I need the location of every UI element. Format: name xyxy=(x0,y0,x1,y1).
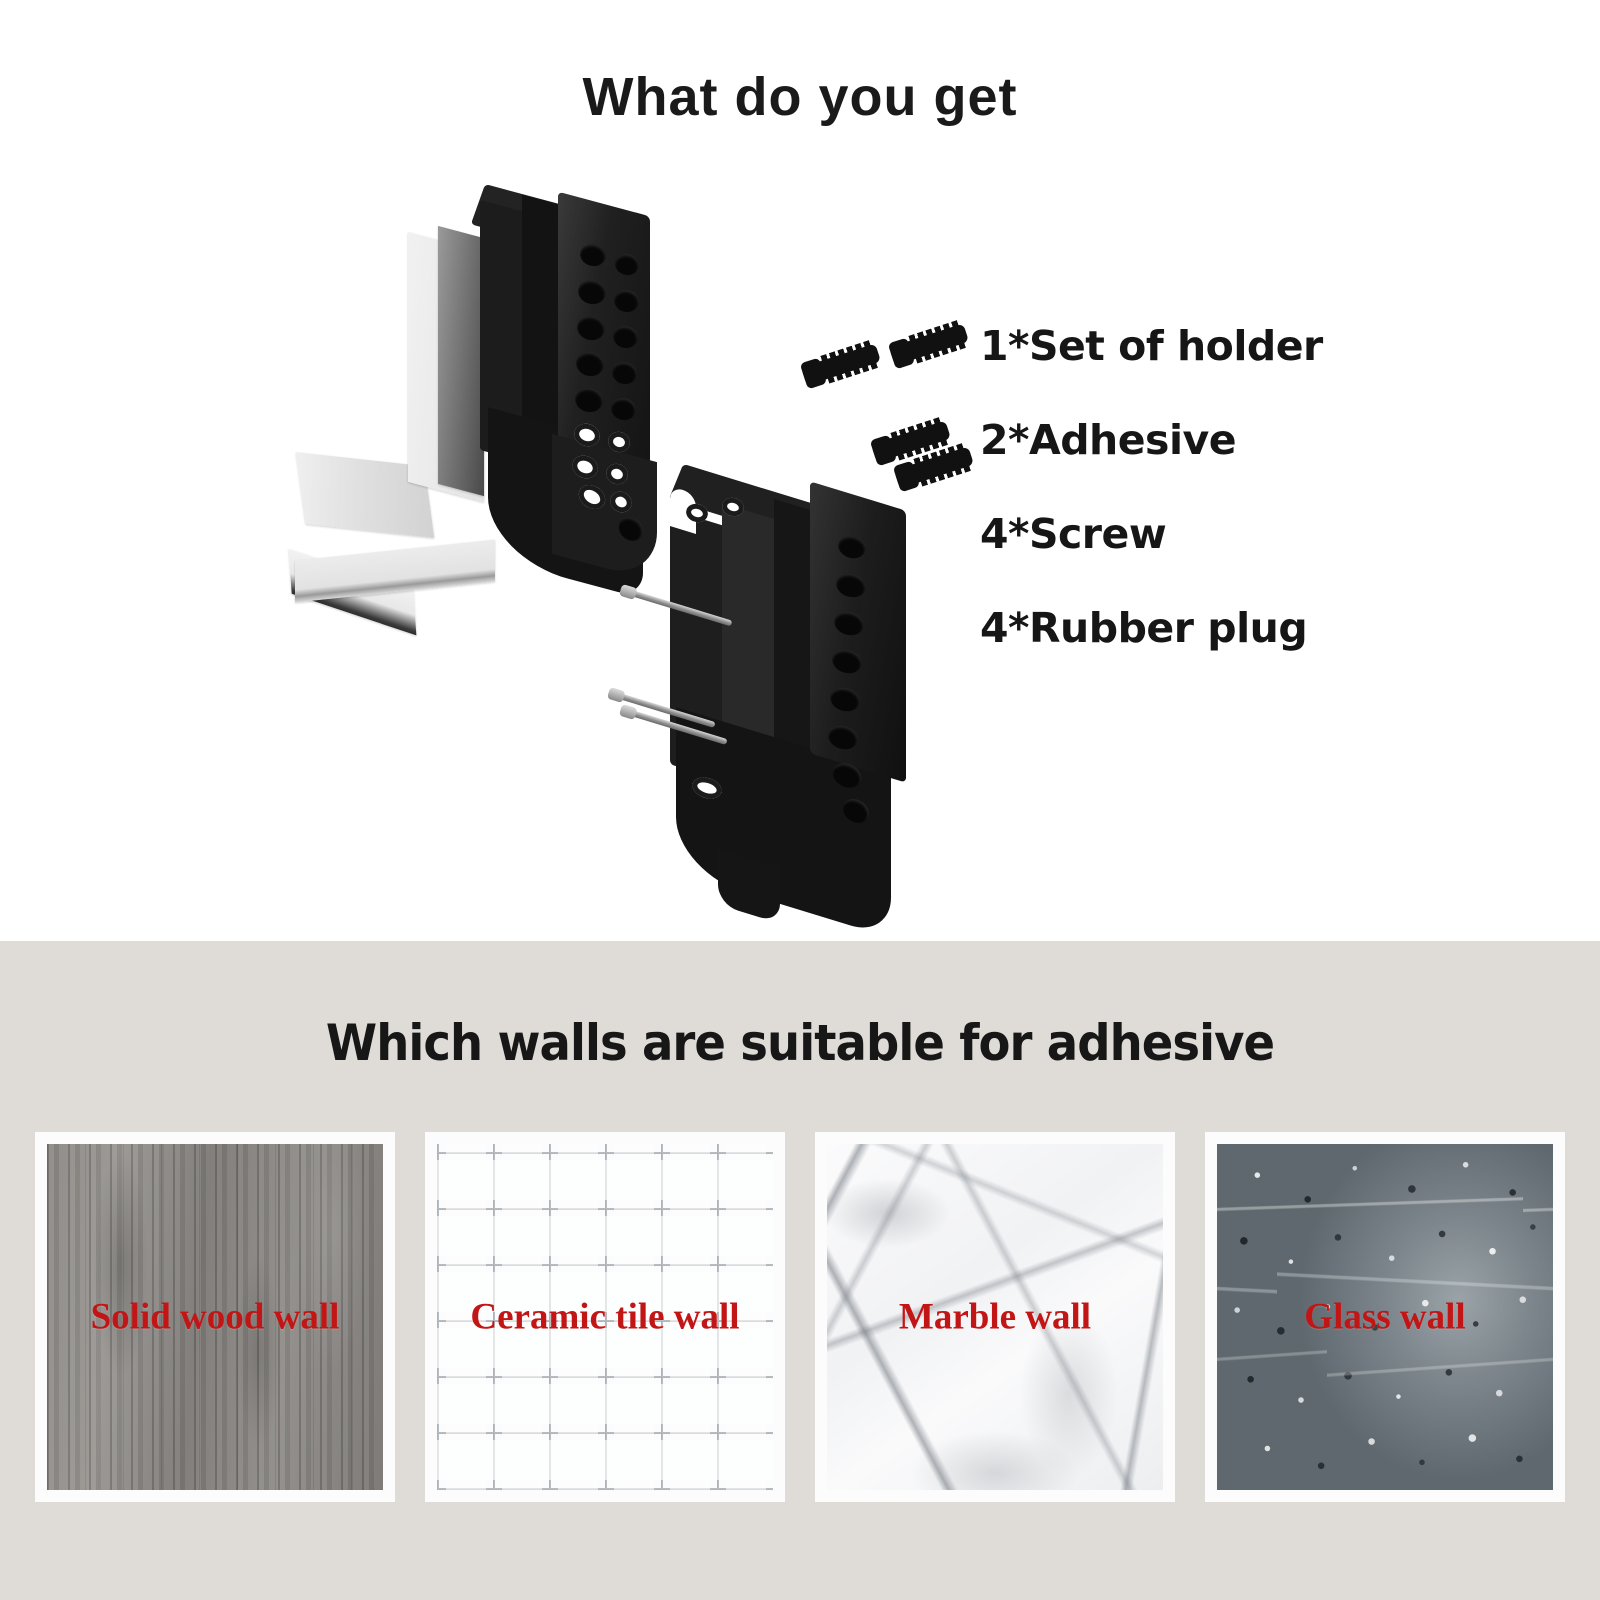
part-item-holder: 1*Set of holder xyxy=(980,326,1540,367)
part-item-adhesive: 2*Adhesive xyxy=(980,420,1540,461)
wall-card-marble: Marble wall xyxy=(815,1132,1175,1502)
part-item-screw: 4*Screw xyxy=(980,514,1540,555)
holder-bracket-lower-icon xyxy=(670,490,1000,910)
what-you-get-panel: What do you get xyxy=(0,0,1600,941)
page-title: What do you get xyxy=(0,66,1600,128)
wall-card-label: Glass wall xyxy=(1205,1296,1565,1339)
wall-card-list: Solid wood wall Ceramic tile wall Marble… xyxy=(35,1132,1565,1502)
wall-card-label: Marble wall xyxy=(815,1296,1175,1339)
rubber-plug-icon xyxy=(889,323,969,365)
wall-card-label: Solid wood wall xyxy=(35,1296,395,1339)
wall-card-ceramic-tile: Ceramic tile wall xyxy=(425,1132,785,1502)
rubber-plug-icon xyxy=(801,343,881,385)
part-item-rubber-plug: 4*Rubber plug xyxy=(980,608,1540,649)
walls-section-title: Which walls are suitable for adhesive xyxy=(56,1014,1544,1072)
wall-card-label: Ceramic tile wall xyxy=(425,1296,785,1339)
product-illustration xyxy=(250,170,970,870)
wall-card-solid-wood: Solid wood wall xyxy=(35,1132,395,1502)
parts-list: 1*Set of holder 2*Adhesive 4*Screw 4*Rub… xyxy=(980,326,1540,702)
wall-card-glass: Glass wall xyxy=(1205,1132,1565,1502)
suitable-walls-panel: Which walls are suitable for adhesive So… xyxy=(0,941,1600,1600)
